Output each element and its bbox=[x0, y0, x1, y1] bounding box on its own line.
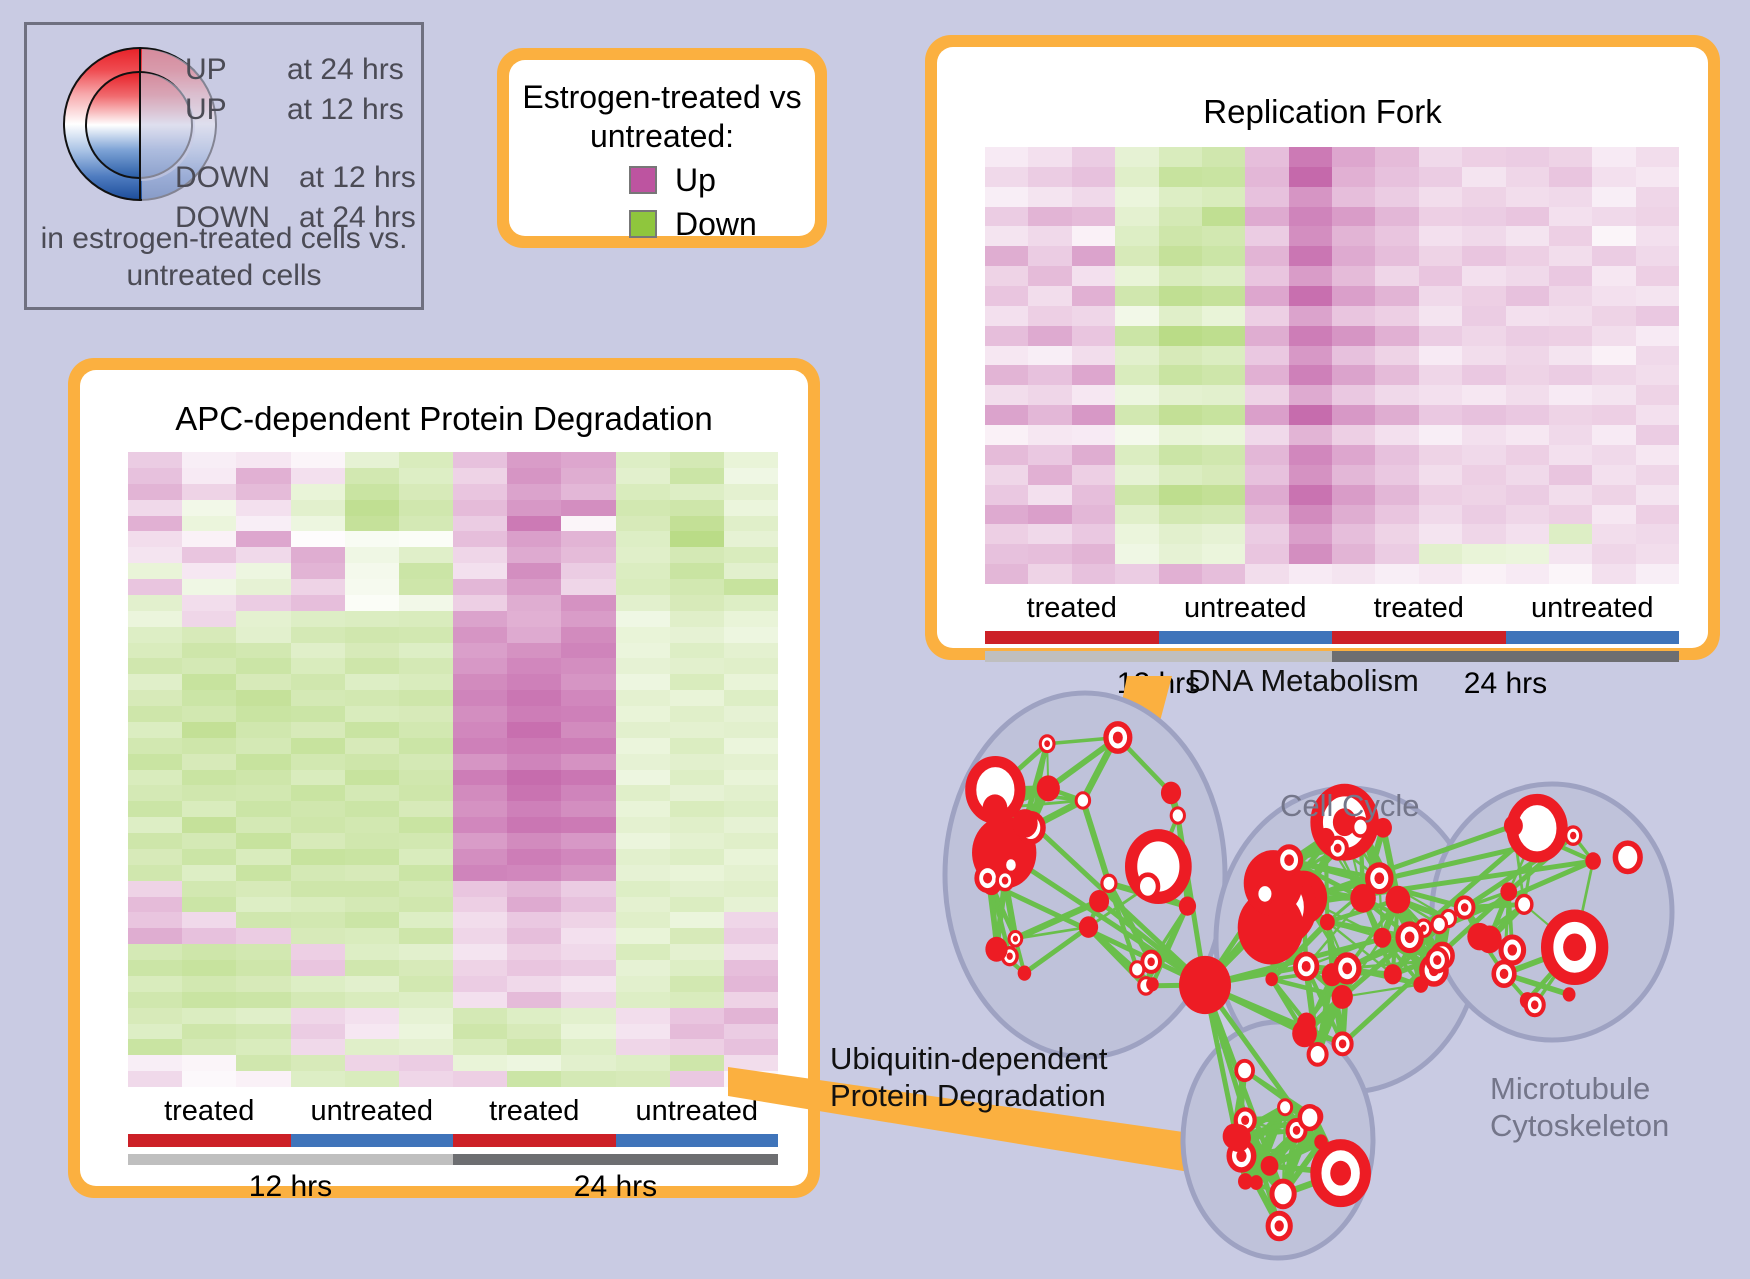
heatmap-cell bbox=[1245, 266, 1288, 286]
heatmap-cell bbox=[399, 1024, 453, 1040]
network-node bbox=[1297, 1012, 1316, 1033]
heatmap-cell bbox=[1375, 326, 1418, 346]
heatmap-cell bbox=[182, 690, 236, 706]
heatmap-cell bbox=[724, 944, 778, 960]
heatmap-cell bbox=[670, 817, 724, 833]
heatmap-cell bbox=[128, 579, 182, 595]
heatmap-cell bbox=[1115, 505, 1158, 525]
pathway-network: DNA Metabolism Cell Cycle Microtubule Cy… bbox=[880, 640, 1750, 1279]
heatmap-cell bbox=[1159, 207, 1202, 227]
heatmap-cell bbox=[561, 738, 615, 754]
heatmap-cell bbox=[1072, 226, 1115, 246]
heatmap-cell bbox=[1592, 306, 1635, 326]
heatmap-cell bbox=[1636, 465, 1679, 485]
heatmap-cell bbox=[1549, 485, 1592, 505]
heatmap-cell bbox=[1592, 207, 1635, 227]
heatmap-cell bbox=[1159, 544, 1202, 564]
heatmap-cell bbox=[1462, 445, 1505, 465]
network-node bbox=[1261, 1156, 1279, 1176]
heatmap-cell bbox=[724, 611, 778, 627]
heatmap-cell bbox=[1202, 326, 1245, 346]
heatmap-cell bbox=[1549, 246, 1592, 266]
network-node-core bbox=[1302, 961, 1311, 972]
heatmap-cell bbox=[1506, 266, 1549, 286]
heatmap-cell bbox=[1159, 147, 1202, 167]
heatmap-cell bbox=[1549, 465, 1592, 485]
heatmap-cell bbox=[1462, 286, 1505, 306]
heatmap-cell bbox=[236, 531, 290, 547]
heatmap-cell bbox=[182, 785, 236, 801]
heatmap-cell bbox=[1375, 544, 1418, 564]
heatmap-cell bbox=[507, 579, 561, 595]
heatmap-cell bbox=[1592, 365, 1635, 385]
heatmap-cell bbox=[291, 801, 345, 817]
heatmap-cell bbox=[1592, 167, 1635, 187]
heatmap-cell bbox=[1462, 465, 1505, 485]
heatmap-cell bbox=[507, 547, 561, 563]
heatmap-cell bbox=[399, 770, 453, 786]
heatmap-cell bbox=[1332, 147, 1375, 167]
heatmap-cell bbox=[291, 944, 345, 960]
heatmap-cell bbox=[1636, 326, 1679, 346]
time-color-segment bbox=[128, 1154, 453, 1165]
heatmap-cell bbox=[1245, 346, 1288, 366]
heatmap-cell bbox=[1375, 266, 1418, 286]
heatmap-cell bbox=[1592, 505, 1635, 525]
network-node-core bbox=[1433, 955, 1441, 965]
heatmap-cell bbox=[1159, 564, 1202, 584]
heatmap-cell bbox=[1592, 286, 1635, 306]
heatmap-cell bbox=[128, 627, 182, 643]
heatmap-cell bbox=[1375, 286, 1418, 306]
heatmap-cell bbox=[399, 1039, 453, 1055]
heatmap-cell bbox=[453, 595, 507, 611]
heatmap-cell bbox=[236, 865, 290, 881]
heatmap-cell bbox=[561, 500, 615, 516]
heatmap-cell bbox=[345, 1055, 399, 1071]
heatmap-cell bbox=[670, 865, 724, 881]
heatmap-cell bbox=[1462, 207, 1505, 227]
heatmap-cell bbox=[1289, 286, 1332, 306]
network-node bbox=[1146, 977, 1159, 991]
cluster-label-cell-cycle: Cell Cycle bbox=[1280, 788, 1420, 824]
apc-panel: APC-dependent Protein Degradation treate… bbox=[68, 358, 820, 1198]
heatmap-cell bbox=[616, 754, 670, 770]
network-node bbox=[1500, 882, 1517, 901]
heatmap-cell bbox=[182, 500, 236, 516]
heatmap-cell bbox=[128, 484, 182, 500]
heatmap-cell bbox=[182, 754, 236, 770]
heatmap-cell bbox=[507, 738, 561, 754]
heatmap-cell bbox=[1072, 365, 1115, 385]
heatmap-cell bbox=[1419, 286, 1462, 306]
heatmap-cell bbox=[1375, 226, 1418, 246]
heatmap-cell bbox=[561, 452, 615, 468]
heatmap-cell bbox=[1636, 226, 1679, 246]
heatmap-cell bbox=[453, 738, 507, 754]
heatmap-cell bbox=[128, 1071, 182, 1087]
heatmap-cell bbox=[399, 531, 453, 547]
heatmap-cell bbox=[561, 563, 615, 579]
heatmap-cell bbox=[128, 944, 182, 960]
heatmap-cell bbox=[128, 976, 182, 992]
heatmap-cell bbox=[1375, 246, 1418, 266]
network-node-core bbox=[1241, 1116, 1249, 1125]
heatmap-cell bbox=[507, 817, 561, 833]
heatmap-cell bbox=[1289, 445, 1332, 465]
heatmap-cell bbox=[453, 706, 507, 722]
heatmap-cell bbox=[453, 912, 507, 928]
heatmap-cell bbox=[616, 944, 670, 960]
network-node-core bbox=[1500, 969, 1509, 979]
heatmap-cell bbox=[561, 722, 615, 738]
heatmap-cell bbox=[1506, 306, 1549, 326]
heatmap-cell bbox=[1202, 465, 1245, 485]
heatmap-cell bbox=[1245, 207, 1288, 227]
heatmap-cell bbox=[616, 865, 670, 881]
heatmap-cell bbox=[670, 801, 724, 817]
heatmap-cell bbox=[291, 452, 345, 468]
heatmap-cell bbox=[453, 881, 507, 897]
heatmap-cell bbox=[1289, 147, 1332, 167]
heatmap-cell bbox=[1636, 385, 1679, 405]
heatmap-cell bbox=[1245, 465, 1288, 485]
heatmap-cell bbox=[1419, 187, 1462, 207]
heatmap-cell bbox=[724, 1055, 778, 1071]
heatmap-cell bbox=[985, 266, 1028, 286]
heatmap-cell bbox=[1115, 306, 1158, 326]
colorwheel-legend: UP at 24 hrs UP at 12 hrs DOWN at 12 hrs… bbox=[24, 22, 424, 310]
heatmap-cell bbox=[399, 992, 453, 1008]
heatmap-cell bbox=[399, 627, 453, 643]
heatmap-cell bbox=[1028, 405, 1071, 425]
heatmap-cell bbox=[616, 579, 670, 595]
heatmap-cell bbox=[182, 452, 236, 468]
heatmap-cell bbox=[1202, 365, 1245, 385]
heatmap-cell bbox=[1375, 207, 1418, 227]
heatmap-cell bbox=[1506, 485, 1549, 505]
heatmap-cell bbox=[182, 833, 236, 849]
heatmap-cell bbox=[1289, 485, 1332, 505]
heatmap-cell bbox=[345, 754, 399, 770]
heatmap-cell bbox=[1419, 306, 1462, 326]
heatmap-cell bbox=[1159, 505, 1202, 525]
network-node bbox=[1238, 1173, 1253, 1190]
heatmap-cell bbox=[182, 674, 236, 690]
down-label: Down bbox=[675, 208, 757, 240]
heatmap-cell bbox=[453, 627, 507, 643]
heatmap-cell bbox=[399, 817, 453, 833]
network-node bbox=[1079, 916, 1098, 938]
heatmap-cell bbox=[561, 579, 615, 595]
heatmap-cell bbox=[345, 817, 399, 833]
heatmap-cell bbox=[399, 785, 453, 801]
heatmap-cell bbox=[1115, 564, 1158, 584]
heatmap-cell bbox=[507, 706, 561, 722]
heatmap-cell bbox=[291, 643, 345, 659]
heatmap-cell bbox=[453, 547, 507, 563]
heatmap-cell bbox=[507, 1039, 561, 1055]
heatmap-cell bbox=[453, 531, 507, 547]
heatmap-cell bbox=[1028, 445, 1071, 465]
heatmap-cell bbox=[453, 754, 507, 770]
heatmap-cell bbox=[670, 595, 724, 611]
heatmap-cell bbox=[236, 595, 290, 611]
heatmap-cell bbox=[985, 226, 1028, 246]
network-node-core bbox=[1563, 934, 1586, 961]
heatmap-cell bbox=[291, 960, 345, 976]
heatmap-cell bbox=[236, 801, 290, 817]
heatmap-cell bbox=[670, 579, 724, 595]
heatmap-cell bbox=[1375, 524, 1418, 544]
heatmap-cell bbox=[1375, 465, 1418, 485]
heatmap-cell bbox=[1115, 445, 1158, 465]
colorwheel-caption: in estrogen-treated cells vs. untreated … bbox=[27, 221, 421, 294]
network-node bbox=[1563, 987, 1576, 1001]
network-node bbox=[1265, 972, 1278, 986]
network-node bbox=[1179, 897, 1196, 916]
heatmap-cell bbox=[1028, 286, 1071, 306]
heatmap-cell bbox=[1462, 266, 1505, 286]
heatmap-cell bbox=[561, 1039, 615, 1055]
heatmap-cell bbox=[507, 833, 561, 849]
network-node-core bbox=[1334, 844, 1342, 853]
heatmap-cell bbox=[724, 452, 778, 468]
heatmap-cell bbox=[1636, 505, 1679, 525]
heatmap-cell bbox=[345, 547, 399, 563]
heatmap-cell bbox=[128, 658, 182, 674]
heatmap-cell bbox=[616, 547, 670, 563]
heatmap-cell bbox=[345, 1008, 399, 1024]
heatmap-cell bbox=[724, 992, 778, 1008]
heatmap-cell bbox=[1419, 226, 1462, 246]
heatmap-cell bbox=[507, 722, 561, 738]
network-node-core bbox=[1330, 1161, 1351, 1186]
heatmap-cell bbox=[670, 960, 724, 976]
heatmap-cell bbox=[561, 770, 615, 786]
heatmap-cell bbox=[128, 690, 182, 706]
heatmap-cell bbox=[128, 1008, 182, 1024]
heatmap-cell bbox=[1289, 544, 1332, 564]
heatmap-cell bbox=[1636, 425, 1679, 445]
heatmap-cell bbox=[1289, 326, 1332, 346]
heatmap-cell bbox=[507, 674, 561, 690]
heatmap-cell bbox=[1289, 425, 1332, 445]
heatmap-cell bbox=[1028, 425, 1071, 445]
heatmap-cell bbox=[1419, 405, 1462, 425]
down-swatch bbox=[629, 210, 657, 238]
heatmap-cell bbox=[616, 817, 670, 833]
heatmap-cell bbox=[236, 611, 290, 627]
heatmap-cell bbox=[399, 801, 453, 817]
heatmap-cell bbox=[1375, 405, 1418, 425]
heatmap-cell bbox=[291, 785, 345, 801]
heatmap-cell bbox=[399, 579, 453, 595]
heatmap-cell bbox=[507, 944, 561, 960]
heatmap-cell bbox=[128, 595, 182, 611]
heatmap-cell bbox=[345, 960, 399, 976]
network-node-core bbox=[1044, 740, 1050, 747]
heatmap-cell bbox=[399, 849, 453, 865]
heatmap-cell bbox=[1072, 187, 1115, 207]
heatmap-cell bbox=[616, 897, 670, 913]
network-node-core bbox=[1144, 881, 1153, 891]
heatmap-cell bbox=[670, 992, 724, 1008]
heatmap-cell bbox=[182, 722, 236, 738]
figure-root: UP at 24 hrs UP at 12 hrs DOWN at 12 hrs… bbox=[0, 0, 1750, 1279]
heatmap-cell bbox=[616, 976, 670, 992]
heatmap-cell bbox=[616, 770, 670, 786]
heatmap-cell bbox=[1159, 485, 1202, 505]
heatmap-cell bbox=[128, 706, 182, 722]
heatmap-cell bbox=[670, 928, 724, 944]
heatmap-cell bbox=[291, 1024, 345, 1040]
heatmap-cell bbox=[1506, 425, 1549, 445]
heatmap-cell bbox=[507, 881, 561, 897]
heatmap-cell bbox=[616, 849, 670, 865]
heatmap-cell bbox=[670, 627, 724, 643]
heatmap-cell bbox=[1549, 306, 1592, 326]
heatmap-cell bbox=[724, 674, 778, 690]
heatmap-cell bbox=[1289, 346, 1332, 366]
network-node bbox=[985, 937, 1007, 962]
heatmap-cell bbox=[507, 912, 561, 928]
heatmap-cell bbox=[291, 468, 345, 484]
heatmap-cell bbox=[1506, 385, 1549, 405]
heatmap-cell bbox=[1289, 246, 1332, 266]
heatmap-cell bbox=[453, 960, 507, 976]
heatmap-cell bbox=[453, 833, 507, 849]
heatmap-cell bbox=[236, 516, 290, 532]
heatmap-cell bbox=[453, 1039, 507, 1055]
heatmap-cell bbox=[453, 690, 507, 706]
heatmap-cell bbox=[128, 849, 182, 865]
heatmap-cell bbox=[985, 306, 1028, 326]
heatmap-cell bbox=[1289, 385, 1332, 405]
heatmap-cell bbox=[291, 500, 345, 516]
heatmap-cell bbox=[1462, 346, 1505, 366]
heatmap-cell bbox=[128, 500, 182, 516]
apc-condition-bar bbox=[128, 1134, 778, 1147]
heatmap-cell bbox=[453, 865, 507, 881]
heatmap-cell bbox=[670, 833, 724, 849]
heatmap-cell bbox=[1592, 485, 1635, 505]
network-node bbox=[1373, 928, 1391, 948]
condition-color-segment bbox=[291, 1134, 454, 1147]
heatmap-cell bbox=[1462, 246, 1505, 266]
heatmap-cell bbox=[616, 563, 670, 579]
heatmap-cell bbox=[507, 595, 561, 611]
heatmap-cell bbox=[182, 849, 236, 865]
heatmap-cell bbox=[236, 627, 290, 643]
heatmap-cell bbox=[1028, 505, 1071, 525]
heatmap-cell bbox=[182, 1055, 236, 1071]
heatmap-cell bbox=[1419, 524, 1462, 544]
heatmap-cell bbox=[399, 912, 453, 928]
heatmap-cell bbox=[1332, 425, 1375, 445]
heatmap-cell bbox=[128, 785, 182, 801]
heatmap-cell bbox=[1028, 147, 1071, 167]
network-node-core bbox=[1339, 1039, 1347, 1048]
heatmap-cell bbox=[507, 611, 561, 627]
heatmap-cell bbox=[1419, 167, 1462, 187]
heatmap-cell bbox=[507, 516, 561, 532]
heatmap-cell bbox=[1202, 286, 1245, 306]
heatmap-cell bbox=[1375, 365, 1418, 385]
heatmap-cell bbox=[561, 484, 615, 500]
heatmap-cell bbox=[399, 690, 453, 706]
heatmap-cell bbox=[236, 674, 290, 690]
heatmap-cell bbox=[291, 595, 345, 611]
heatmap-cell bbox=[1332, 445, 1375, 465]
heatmap-cell bbox=[236, 960, 290, 976]
heatmap-cell bbox=[561, 992, 615, 1008]
heatmap-cell bbox=[182, 817, 236, 833]
heatmap-cell bbox=[291, 658, 345, 674]
heatmap-cell bbox=[1506, 167, 1549, 187]
heatmap-cell bbox=[561, 912, 615, 928]
heatmap-cell bbox=[453, 849, 507, 865]
heatmap-cell bbox=[507, 500, 561, 516]
heatmap-cell bbox=[345, 643, 399, 659]
heatmap-cell bbox=[1115, 385, 1158, 405]
heatmap-cell bbox=[1202, 187, 1245, 207]
heatmap-cell bbox=[1072, 207, 1115, 227]
heatmap-cell bbox=[1115, 266, 1158, 286]
heatmap-cell bbox=[399, 738, 453, 754]
heatmap-cell bbox=[1549, 326, 1592, 346]
heatmap-cell bbox=[182, 595, 236, 611]
heatmap-cell bbox=[561, 817, 615, 833]
heatmap-cell bbox=[1506, 544, 1549, 564]
heatmap-cell bbox=[1636, 246, 1679, 266]
heatmap-cell bbox=[1072, 385, 1115, 405]
heatmap-cell bbox=[1115, 485, 1158, 505]
heatmap-cell bbox=[616, 960, 670, 976]
heatmap-cell bbox=[453, 643, 507, 659]
heatmap-cell bbox=[1462, 524, 1505, 544]
heatmap-cell bbox=[128, 865, 182, 881]
heatmap-cell bbox=[1549, 286, 1592, 306]
heatmap-cell bbox=[507, 531, 561, 547]
heatmap-cell bbox=[1549, 346, 1592, 366]
heatmap-cell bbox=[1202, 485, 1245, 505]
condition-label: untreated bbox=[1159, 592, 1333, 625]
network-node bbox=[1317, 828, 1335, 848]
heatmap-cell bbox=[985, 405, 1028, 425]
heatmap-cell bbox=[670, 658, 724, 674]
heatmap-cell bbox=[1159, 167, 1202, 187]
heatmap-cell bbox=[507, 643, 561, 659]
heatmap-cell bbox=[561, 801, 615, 817]
heatmap-cell bbox=[1462, 326, 1505, 346]
heatmap-cell bbox=[561, 976, 615, 992]
heatmap-cell bbox=[345, 579, 399, 595]
heatmap-cell bbox=[1159, 385, 1202, 405]
heatmap-cell bbox=[1592, 187, 1635, 207]
heatmap-cell bbox=[1375, 306, 1418, 326]
heatmap-cell bbox=[507, 468, 561, 484]
heatmap-cell bbox=[1115, 187, 1158, 207]
heatmap-cell bbox=[1592, 425, 1635, 445]
heatmap-cell bbox=[1506, 147, 1549, 167]
heatmap-cell bbox=[236, 833, 290, 849]
network-node bbox=[1384, 964, 1402, 984]
heatmap-cell bbox=[399, 674, 453, 690]
network-node bbox=[1413, 976, 1428, 993]
heatmap-cell bbox=[1028, 385, 1071, 405]
network-node-core bbox=[1147, 957, 1154, 966]
